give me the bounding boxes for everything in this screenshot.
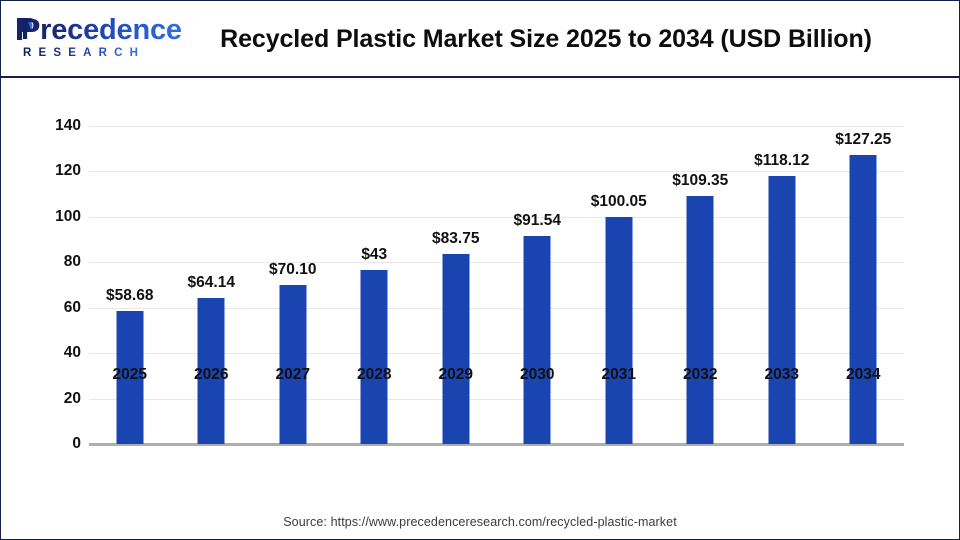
x-axis-tick-label: 2030 xyxy=(520,366,554,384)
logo-subtitle: RESEARCH xyxy=(23,47,145,60)
bar-2034[interactable] xyxy=(850,155,877,444)
bar-2032[interactable] xyxy=(687,196,714,444)
bar-2031[interactable] xyxy=(605,217,632,444)
bar-value-label: $58.68 xyxy=(106,287,153,305)
bar-value-label: $127.25 xyxy=(835,131,891,149)
logo-wordmark: Precedence xyxy=(21,14,182,46)
y-axis-tick-label: 100 xyxy=(21,208,81,226)
x-axis-tick-label: 2028 xyxy=(357,366,391,384)
x-axis-tick-label: 2026 xyxy=(194,366,228,384)
bar-value-label: $100.05 xyxy=(591,193,647,211)
y-axis-tick-label: 20 xyxy=(21,390,81,408)
x-axis-tick-label: 2032 xyxy=(683,366,717,384)
bar-series: $58.682025$64.142026$70.102027$432028$83… xyxy=(89,79,904,539)
precedence-research-logo: Precedence RESEARCH xyxy=(15,14,165,64)
bar-2030[interactable] xyxy=(524,236,551,444)
y-axis-tick-label: 80 xyxy=(21,253,81,271)
x-axis-tick-label: 2034 xyxy=(846,366,880,384)
bar-value-label: $70.10 xyxy=(269,261,316,279)
plot-area: 020406080100120140 $58.682025$64.142026$… xyxy=(1,79,959,539)
bar-value-label: $43 xyxy=(361,246,387,264)
x-axis-tick-label: 2031 xyxy=(602,366,636,384)
bar-group: $83.752029 xyxy=(415,79,497,444)
header-bar: Precedence RESEARCH Recycled Plastic Mar… xyxy=(1,1,959,78)
bar-value-label: $109.35 xyxy=(672,172,728,190)
y-axis-tick-label: 0 xyxy=(21,435,81,453)
bar-2033[interactable] xyxy=(768,176,795,444)
x-axis-tick-label: 2029 xyxy=(439,366,473,384)
bar-group: $91.542030 xyxy=(497,79,579,444)
bar-group: $70.102027 xyxy=(252,79,334,444)
bar-value-label: $91.54 xyxy=(514,212,561,230)
chart-screenshot: Precedence RESEARCH Recycled Plastic Mar… xyxy=(0,0,960,540)
bar-group: $64.142026 xyxy=(171,79,253,444)
page-title: Recycled Plastic Market Size 2025 to 203… xyxy=(196,25,896,54)
bar-2029[interactable] xyxy=(442,254,469,444)
y-axis-tick-label: 60 xyxy=(21,299,81,317)
x-axis-tick-label: 2033 xyxy=(765,366,799,384)
bar-value-label: $83.75 xyxy=(432,230,479,248)
bar-2027[interactable] xyxy=(279,285,306,444)
bar-group: $58.682025 xyxy=(89,79,171,444)
bar-group: $100.052031 xyxy=(578,79,660,444)
bar-value-label: $118.12 xyxy=(754,152,809,170)
y-axis-tick-label: 120 xyxy=(21,162,81,180)
bar-group: $127.252034 xyxy=(823,79,905,444)
y-axis-tick-label: 40 xyxy=(21,344,81,362)
source-caption: Source: https://www.precedenceresearch.c… xyxy=(1,515,959,529)
x-axis-tick-label: 2025 xyxy=(113,366,147,384)
bar-group: $118.122033 xyxy=(741,79,823,444)
bar-2028[interactable] xyxy=(361,270,388,444)
bar-group: $109.352032 xyxy=(660,79,742,444)
y-axis: 020406080100120140 xyxy=(15,79,81,539)
bar-value-label: $64.14 xyxy=(188,274,235,292)
bar-group: $432028 xyxy=(334,79,416,444)
y-axis-tick-label: 140 xyxy=(21,117,81,135)
x-axis-tick-label: 2027 xyxy=(276,366,310,384)
